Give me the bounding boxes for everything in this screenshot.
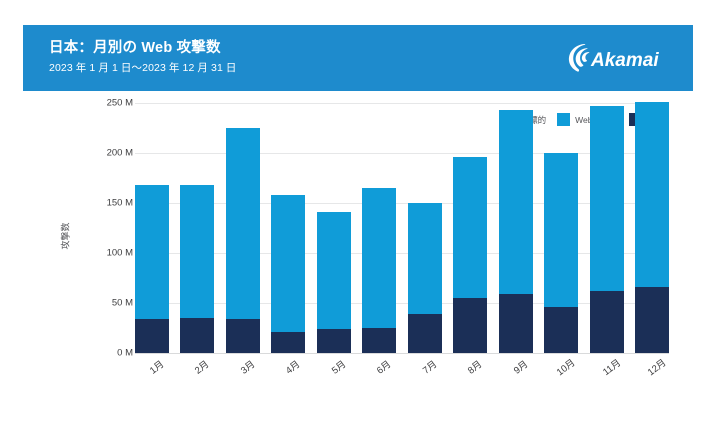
x-axis-label-cell: 1月 xyxy=(135,353,169,399)
x-axis-label-cell: 10月 xyxy=(544,353,578,399)
bar-segment-web-app[interactable] xyxy=(135,185,169,319)
x-axis-label-cell: 11月 xyxy=(590,353,624,399)
svg-text:Akamai: Akamai xyxy=(590,50,659,71)
x-axis-label-cell: 7月 xyxy=(408,353,442,399)
bar-segment-web-app[interactable] xyxy=(271,195,305,332)
x-axis-tick-label: 6月 xyxy=(373,357,393,377)
bar-segment-api[interactable] xyxy=(180,318,214,353)
x-axis-tick-label: 11月 xyxy=(599,355,623,378)
bar-segment-web-app[interactable] xyxy=(180,185,214,318)
y-axis-label: 攻撃数 xyxy=(59,222,72,249)
x-axis-label-cell: 9月 xyxy=(499,353,533,399)
bar-segment-api[interactable] xyxy=(544,307,578,353)
bar-segment-api[interactable] xyxy=(271,332,305,353)
x-axis-tick-label: 12月 xyxy=(644,355,668,378)
x-axis-label-cell: 6月 xyxy=(362,353,396,399)
x-axis-label-cell: 12月 xyxy=(635,353,669,399)
bar-segment-api[interactable] xyxy=(362,328,396,353)
bar-segment-web-app[interactable] xyxy=(635,102,669,287)
y-axis-tick-label: 150 M xyxy=(73,198,133,209)
x-axis-tick-label: 2月 xyxy=(192,357,212,377)
y-axis-tick-label: 50 M xyxy=(73,298,133,309)
x-axis-tick-label: 5月 xyxy=(328,357,348,377)
bar-segment-api[interactable] xyxy=(317,329,351,353)
x-axis-label-cell: 5月 xyxy=(317,353,351,399)
x-axis-tick-label: 1月 xyxy=(146,357,166,377)
bar-segment-web-app[interactable] xyxy=(499,110,533,294)
x-axis-label-cell: 2月 xyxy=(180,353,214,399)
x-axis-label-cell: 3月 xyxy=(226,353,260,399)
x-axis-tick-label: 7月 xyxy=(419,357,439,377)
x-axis-tick-label: 4月 xyxy=(282,357,302,377)
x-axis-tick-label: 10月 xyxy=(553,355,577,378)
y-axis-tick-label: 250 M xyxy=(73,98,133,109)
plot-area: 攻撃数 0 M50 M100 M150 M200 M250 M 1月2月3月4月… xyxy=(23,91,693,401)
akamai-logo-icon: Akamai xyxy=(567,41,671,75)
header-text-block: 日本：月別の Web 攻撃数 2023 年 1 月 1 日〜2023 年 12 … xyxy=(49,39,237,76)
bar-segment-web-app[interactable] xyxy=(544,153,578,307)
y-axis-tick-label: 100 M xyxy=(73,248,133,259)
bar-segment-api[interactable] xyxy=(135,319,169,353)
y-axis-tick-label: 0 M xyxy=(73,348,133,359)
chart-container: 標的 Web アプリ API 攻撃数 0 M50 M100 M150 M200 … xyxy=(23,91,693,401)
y-axis-ticks: 0 M50 M100 M150 M200 M250 M xyxy=(71,91,133,401)
bar-segment-api[interactable] xyxy=(635,287,669,353)
bar-segment-web-app[interactable] xyxy=(408,203,442,314)
bar-segment-api[interactable] xyxy=(590,291,624,353)
akamai-logo: Akamai xyxy=(567,41,671,75)
bar-segment-web-app[interactable] xyxy=(317,212,351,329)
page-title: 日本：月別の Web 攻撃数 xyxy=(49,39,237,59)
bar-segment-api[interactable] xyxy=(499,294,533,353)
header-banner: 日本：月別の Web 攻撃数 2023 年 1 月 1 日〜2023 年 12 … xyxy=(23,25,693,91)
x-axis-label-cell: 4月 xyxy=(271,353,305,399)
x-axis-tick-label: 9月 xyxy=(510,357,530,377)
bar-segment-web-app[interactable] xyxy=(362,188,396,328)
x-axis-tick-label: 3月 xyxy=(237,357,257,377)
bar-segment-web-app[interactable] xyxy=(590,106,624,291)
x-axis-label-cell: 8月 xyxy=(453,353,487,399)
bar-segment-web-app[interactable] xyxy=(226,128,260,319)
page-subtitle: 2023 年 1 月 1 日〜2023 年 12 月 31 日 xyxy=(49,61,237,77)
bar-segment-web-app[interactable] xyxy=(453,157,487,298)
bar-segment-api[interactable] xyxy=(226,319,260,353)
chart-page: 日本：月別の Web 攻撃数 2023 年 1 月 1 日〜2023 年 12 … xyxy=(0,0,716,425)
bar-segment-api[interactable] xyxy=(453,298,487,353)
x-axis-labels: 1月2月3月4月5月6月7月8月9月10月11月12月 xyxy=(135,353,669,399)
y-axis-tick-label: 200 M xyxy=(73,148,133,159)
x-axis-tick-label: 8月 xyxy=(464,357,484,377)
bar-segment-api[interactable] xyxy=(408,314,442,353)
